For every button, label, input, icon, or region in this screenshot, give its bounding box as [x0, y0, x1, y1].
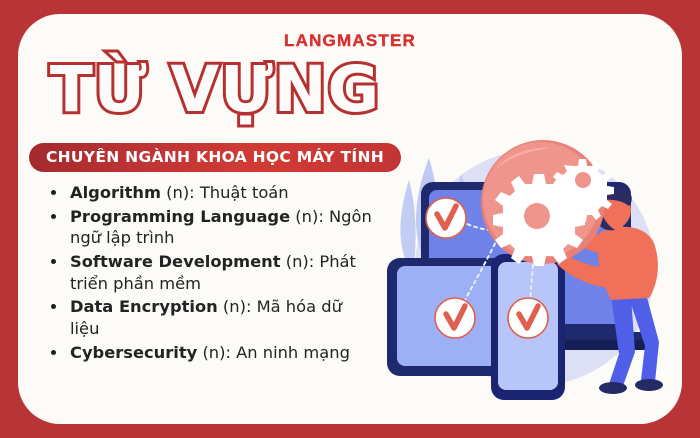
- vocab-term: Software Development: [70, 252, 281, 271]
- person-shoe-back: [599, 382, 627, 394]
- person-shoe-front: [635, 379, 663, 391]
- check-badge-tablet: [435, 298, 475, 338]
- bullet-icon: [51, 190, 56, 195]
- vocab-pos: (n):: [197, 343, 236, 362]
- list-item: Programming Language (n): Ngôn ngữ lập t…: [44, 206, 374, 249]
- vocab-definition: An ninh mạng: [236, 343, 350, 362]
- vocab-term: Cybersecurity: [70, 343, 197, 362]
- bullet-icon: [51, 304, 56, 309]
- list-item: Data Encryption (n): Mã hóa dữ liệu: [44, 296, 374, 339]
- list-item: Algorithm (n): Thuật toán: [44, 182, 374, 204]
- vocab-definition: Thuật toán: [200, 183, 289, 202]
- vocab-term: Programming Language: [70, 207, 290, 226]
- check-badge-laptop: [426, 198, 466, 238]
- vocab-pos: (n):: [218, 297, 257, 316]
- person-torso: [598, 227, 658, 300]
- list-item: Cybersecurity (n): An ninh mạng: [44, 342, 374, 364]
- check-badge-phone: [508, 298, 548, 338]
- list-item: Software Development (n): Phát triển phầ…: [44, 251, 374, 294]
- subtitle-banner: CHUYÊN NGÀNH KHOA HỌC MÁY TÍNH: [29, 143, 401, 172]
- poster-frame: LANGMASTER TỪ VỰNG CHUYÊN NGÀNH KHOA HỌC…: [0, 0, 700, 438]
- brand-logo: LANGMASTER: [0, 31, 700, 51]
- bullet-icon: [51, 350, 56, 355]
- vocab-term: Data Encryption: [70, 297, 218, 316]
- vocab-pos: (n):: [281, 252, 320, 271]
- vocabulary-list: Algorithm (n): Thuật toán Programming La…: [44, 182, 374, 365]
- laptop-base-shadow: [563, 340, 655, 350]
- subtitle-banner-container: CHUYÊN NGÀNH KHOA HỌC MÁY TÍNH: [0, 143, 430, 172]
- headline-container: TỪ VỰNG: [0, 57, 430, 123]
- illustration-devices-gears-person: [383, 140, 683, 410]
- bullet-icon: [51, 259, 56, 264]
- bullet-icon: [51, 214, 56, 219]
- vocab-pos: (n):: [161, 183, 200, 202]
- vocab-pos: (n):: [290, 207, 329, 226]
- page-title: TỪ VỰNG: [50, 57, 380, 123]
- vocab-term: Algorithm: [70, 183, 161, 202]
